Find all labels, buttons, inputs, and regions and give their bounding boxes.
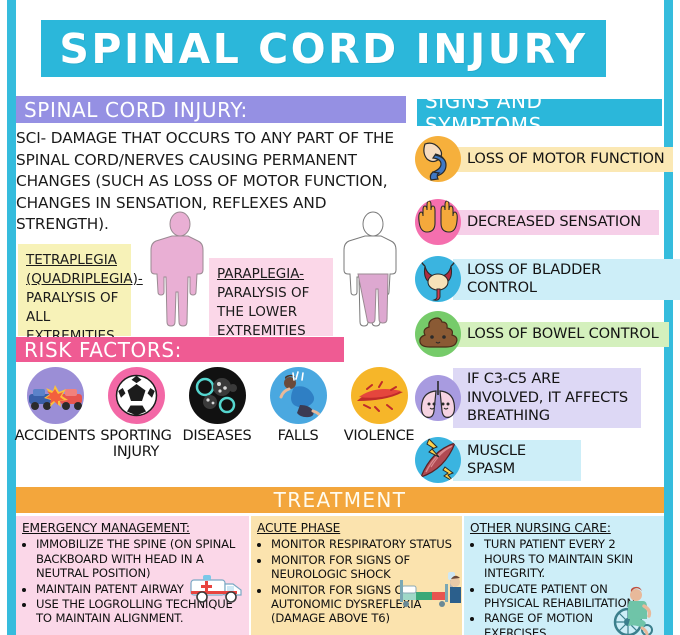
risk-factor-label: VIOLENCE [338,428,420,444]
section-header-signs-symptoms: SIGNS AND SYMPTOMS [417,99,662,126]
risk-factor-label: FALLS [257,428,339,444]
symptom-label: IF C3-C5 ARE INVOLVED, IT AFFECTS BREATH… [453,368,641,428]
treatment-column-title: ACUTE PHASE [257,521,456,535]
tetraplegia-term-line1: TETRAPLEGIA [26,252,117,268]
treatment-column-emergency-management: EMERGENCY MANAGEMENT: IMMOBILIZE THE SPI… [16,516,249,635]
bladder-icon [415,256,461,302]
symptom-loss-of-motor-function[interactable]: LOSS OF MOTOR FUNCTION [415,136,673,182]
risk-factor-label: DISEASES [176,428,258,444]
symptom-muscle-spasm[interactable]: MUSCLE SPASM [415,437,581,483]
symptom-loss-of-bladder-control[interactable]: LOSS OF BLADDER CONTROL [415,256,680,302]
risk-factor-accidents[interactable]: ACCIDENTS [14,367,96,444]
list-item: MONITOR FOR SIGNS OF AUTONOMIC DYSREFLEX… [271,583,456,626]
hands-icon [415,199,461,245]
list-item: MONITOR FOR SIGNS OF NEUROLOGIC SHOCK [271,553,456,582]
list-item: EDUCATE PATIENT ON PHYSICAL REHABILITATI… [484,582,658,611]
symptom-decreased-sensation[interactable]: DECREASED SENSATION [415,199,659,245]
treatment-column-title: EMERGENCY MANAGEMENT: [22,521,243,535]
treatment-column-title: OTHER NURSING CARE: [470,521,658,535]
section-header-treatment: TREATMENT [16,487,664,513]
risk-factors-row: ACCIDENTS SPORTING INJURY [14,367,429,477]
tetraplegia-term-line2: (QUADRIPLEGIA)- [26,271,143,287]
list-item: MONITOR RESPIRATORY STATUS [271,537,456,551]
stool-icon [415,311,461,357]
list-item: USE THE LOGROLLING TECHNIQUE TO MAINTAIN… [36,597,243,626]
infographic-page: SPINAL CORD INJURY SPINAL CORD INJURY: S… [0,0,680,635]
treatment-column-other-nursing-care: OTHER NURSING CARE: TURN PATIENT EVERY 2… [464,516,664,635]
risk-factor-label: SPORTING INJURY [95,428,177,460]
list-item: IMMOBILIZE THE SPINE (ON SPINAL BACKBOAR… [36,537,243,580]
page-title: SPINAL CORD INJURY [59,25,587,73]
risk-factor-diseases[interactable]: DISEASES [176,367,258,444]
list-item: RANGE OF MOTION EXERCISES [484,611,658,635]
treatment-bullet-list: TURN PATIENT EVERY 2 HOURS TO MAINTAIN S… [470,537,658,635]
tetraplegia-box: TETRAPLEGIA (QUADRIPLEGIA)- PARALYSIS OF… [18,244,131,336]
list-item: TURN PATIENT EVERY 2 HOURS TO MAINTAIN S… [484,537,658,580]
limb-weakness-icon [415,136,461,182]
falling-person-icon [270,367,327,424]
symptom-loss-of-bowel-control[interactable]: LOSS OF BOWEL CONTROL [415,311,669,357]
paraplegia-body-figure [341,211,405,344]
soccer-ball-icon [108,367,165,424]
page-title-banner: SPINAL CORD INJURY [41,20,606,77]
wound-slash-icon [351,367,408,424]
treatment-bullet-list: IMMOBILIZE THE SPINE (ON SPINAL BACKBOAR… [22,537,243,625]
treatment-bullet-list: MONITOR RESPIRATORY STATUS MONITOR FOR S… [257,537,456,625]
risk-factors-label: RISK FACTORS: [24,338,182,362]
treatment-column-acute-phase: ACUTE PHASE MONITOR RESPIRATORY STATUS M… [251,516,462,635]
list-item: MAINTAIN PATENT AIRWAY [36,582,243,596]
symptom-label: LOSS OF BOWEL CONTROL [453,322,669,347]
risk-factor-label: ACCIDENTS [14,428,96,444]
section-header-risk-factors: RISK FACTORS: [16,337,344,362]
lungs-icon [415,375,461,421]
symptom-breathing-c3-c5[interactable]: IF C3-C5 ARE INVOLVED, IT AFFECTS BREATH… [415,368,641,428]
risk-factor-falls[interactable]: FALLS [257,367,339,444]
muscle-spasm-icon [415,437,461,483]
car-crash-icon [27,367,84,424]
paraplegia-description: PARALYSIS OF THE LOWER EXTREMITIES [217,285,309,339]
page-edge-white-right [673,0,680,635]
tetraplegia-description: PARALYSIS OF ALL EXTREMITIES [26,290,118,344]
section-header-label: SPINAL CORD INJURY: [24,98,248,122]
page-border-left [7,0,16,635]
risk-factor-sporting-injury[interactable]: SPORTING INJURY [95,367,177,460]
page-edge-white-left [0,0,7,635]
tetraplegia-body-figure [148,211,212,344]
paraplegia-box: PARAPLEGIA- PARALYSIS OF THE LOWER EXTRE… [209,258,333,336]
risk-factor-violence[interactable]: VIOLENCE [338,367,420,444]
virus-cells-icon [189,367,246,424]
treatment-label: TREATMENT [274,488,407,512]
section-header-spinal-cord-injury: SPINAL CORD INJURY: [16,96,406,123]
symptom-label: LOSS OF MOTOR FUNCTION [453,147,673,172]
paraplegia-term: PARAPLEGIA- [217,266,304,282]
symptom-label: MUSCLE SPASM [453,440,581,481]
symptom-label: LOSS OF BLADDER CONTROL [453,259,680,300]
symptom-label: DECREASED SENSATION [453,210,659,235]
signs-symptoms-label: SIGNS AND SYMPTOMS [425,89,662,137]
